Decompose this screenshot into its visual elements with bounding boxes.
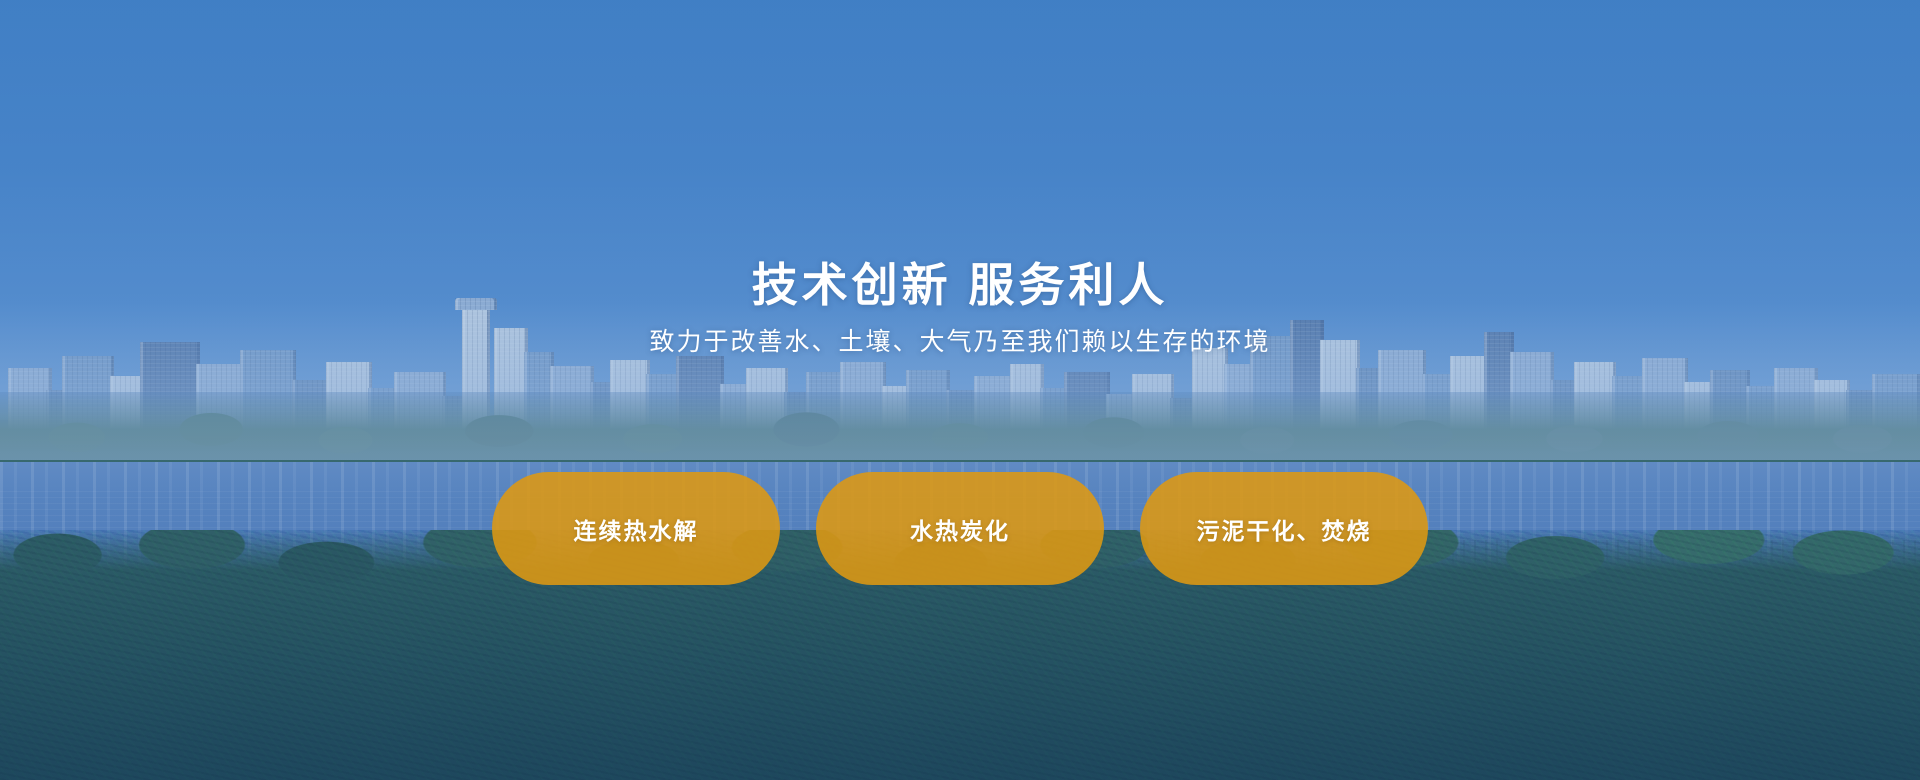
hero-banner: 技术创新 服务利人 致力于改善水、土壤、大气乃至我们赖以生存的环境 连续热水解 …	[0, 0, 1920, 780]
page-title: 技术创新 服务利人	[0, 258, 1920, 312]
hero-button-continuous-thermal-hydrolysis[interactable]: 连续热水解	[492, 472, 780, 585]
hero-button-label: 污泥干化、焚烧	[1197, 512, 1372, 546]
hero-button-sludge-drying-incineration[interactable]: 污泥干化、焚烧	[1140, 472, 1428, 585]
hero-button-label: 水热炭化	[910, 512, 1010, 546]
hero-subtitle: 致力于改善水、土壤、大气乃至我们赖以生存的环境	[0, 326, 1920, 360]
hero-copy-block: 技术创新 服务利人 致力于改善水、土壤、大气乃至我们赖以生存的环境	[0, 258, 1920, 360]
hero-button-row: 连续热水解 水热炭化 污泥干化、焚烧	[0, 472, 1920, 585]
hero-button-hydrothermal-carbonization[interactable]: 水热炭化	[816, 472, 1104, 585]
hero-button-label: 连续热水解	[574, 512, 699, 546]
